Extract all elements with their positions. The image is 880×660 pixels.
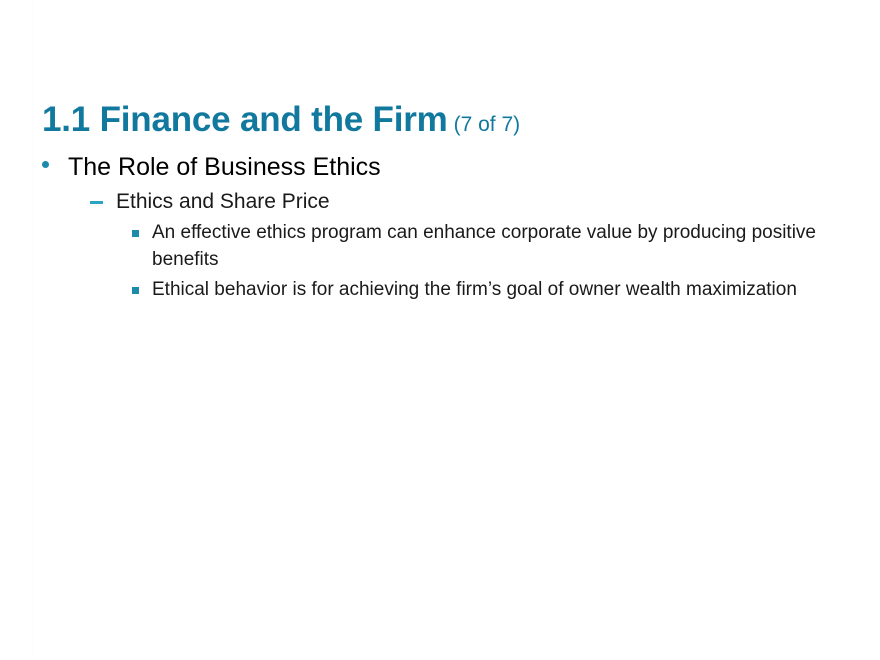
bullet-level2-label: Ethics and Share Price: [116, 189, 330, 215]
bullet-level2: Ethics and Share Price: [90, 189, 842, 215]
dot-bullet-icon: [42, 152, 68, 168]
bullet-level3-label: Ethical behavior is for achieving the fi…: [152, 277, 797, 304]
slide-title-text: 1.1 Finance and the Firm: [42, 100, 448, 139]
square-bullet-icon: [132, 220, 152, 237]
slide-counter: (7 of 7): [448, 113, 521, 136]
slide-left-margin-band: [0, 0, 33, 660]
square-bullet-icon: [132, 277, 152, 294]
bullet-level1: The Role of Business Ethics: [42, 152, 842, 183]
bullet-level3: Ethical behavior is for achieving the fi…: [132, 277, 842, 304]
bullet-level1-label: The Role of Business Ethics: [68, 152, 381, 183]
bullet-level3-label: An effective ethics program can enhance …: [152, 220, 842, 274]
page-title: 1.1 Finance and the Firm(7 of 7): [42, 101, 520, 140]
bullet-level3: An effective ethics program can enhance …: [132, 220, 842, 274]
presentation-slide: 1.1 Finance and the Firm(7 of 7) The Rol…: [0, 0, 880, 660]
dash-bullet-icon: [90, 189, 116, 204]
slide-body: The Role of Business Ethics Ethics and S…: [42, 152, 842, 308]
